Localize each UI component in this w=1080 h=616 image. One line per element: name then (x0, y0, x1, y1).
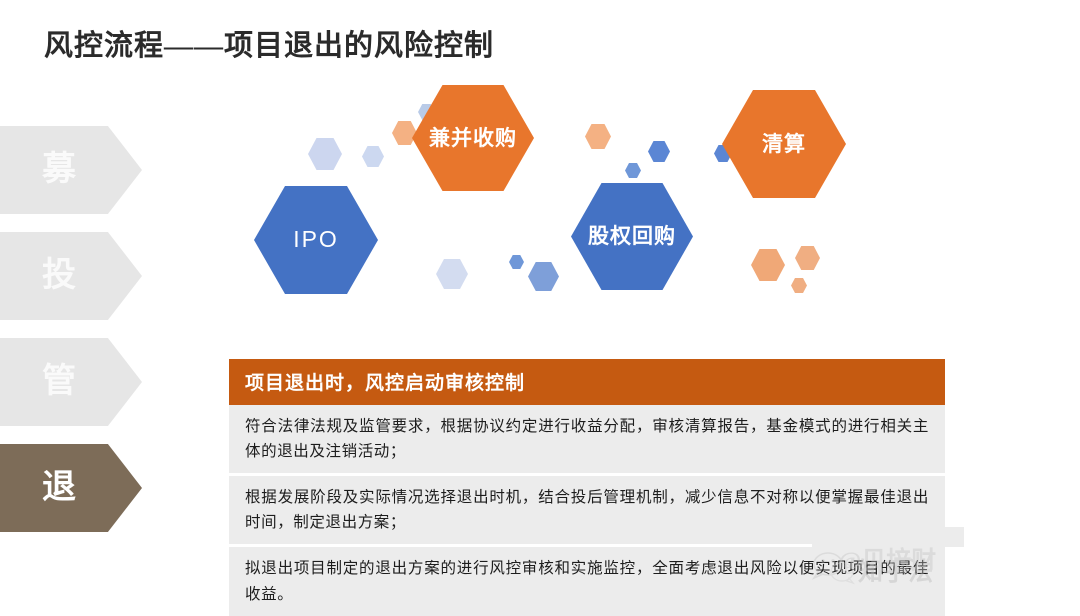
exit-channel-buyback[interactable]: 股权回购 (571, 183, 693, 290)
hex-deco-orange-4 (795, 246, 820, 270)
risk-table-row: 符合法律法规及监管要求，根据协议约定进行收益分配，审核清算报告，基金模式的进行相… (229, 405, 945, 476)
risk-control-table: 项目退出时，风控启动审核控制 符合法律法规及监管要求，根据协议约定进行收益分配，… (229, 359, 945, 616)
hex-deco-light-blue-1 (308, 138, 342, 170)
hex-deco-orange-2 (585, 124, 611, 149)
watermark-band (812, 527, 964, 547)
risk-table-row: 拟退出项目制定的退出方案的进行风控审核和实施监控，全面考虑退出风险以便实现项目的… (229, 547, 945, 615)
stage-item-guan[interactable]: 管 (0, 338, 142, 426)
exit-channel-merger[interactable]: 兼并收购 (412, 85, 534, 191)
exit-channel-diagram: IPO 兼并收购 股权回购 清算 (0, 0, 1080, 330)
exit-channel-ipo[interactable]: IPO (254, 186, 378, 294)
risk-table-header: 项目退出时，风控启动审核控制 (229, 359, 945, 405)
stage-item-label: 退 (42, 471, 78, 505)
stage-item-label: 管 (42, 365, 78, 399)
hex-deco-orange-5 (791, 278, 807, 293)
hex-deco-blue-4 (528, 262, 559, 291)
hex-deco-orange-1 (392, 121, 417, 145)
hex-deco-orange-3 (751, 249, 785, 281)
exit-channel-label: 清算 (748, 130, 820, 158)
exit-channel-label: 股权回购 (574, 222, 690, 250)
hex-deco-blue-3 (509, 255, 524, 269)
hex-deco-blue-1 (648, 141, 670, 162)
hex-deco-light-blue-2 (362, 146, 384, 167)
hex-deco-light-blue-4 (436, 259, 468, 289)
exit-channel-liquidation[interactable]: 清算 (722, 90, 846, 198)
exit-channel-label: 兼并收购 (415, 124, 531, 152)
exit-channel-label: IPO (279, 224, 353, 255)
hex-deco-blue-2 (625, 163, 641, 178)
stage-item-tui[interactable]: 退 (0, 444, 142, 532)
